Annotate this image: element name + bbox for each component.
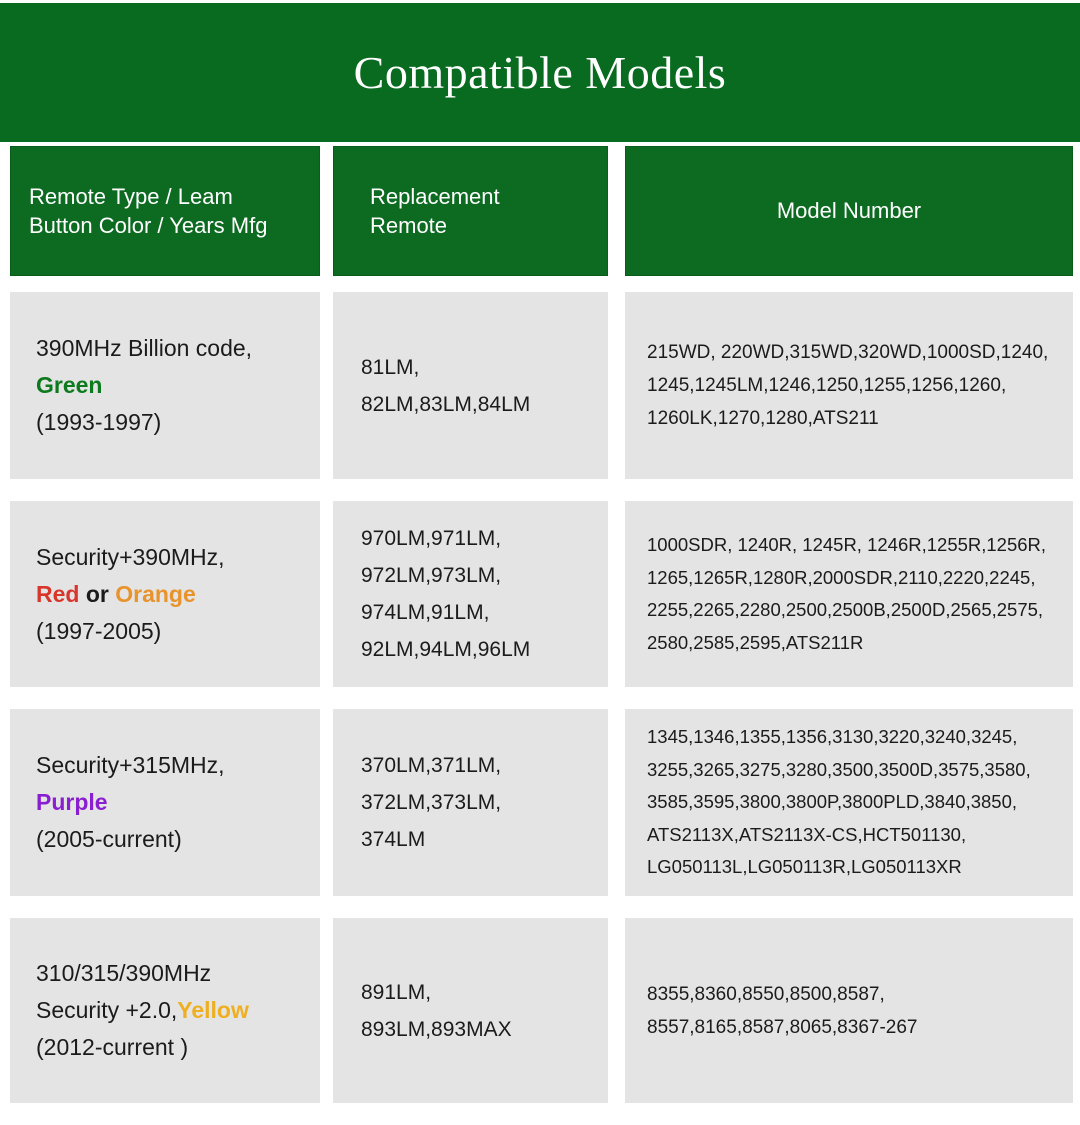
model-number-line: 3585,3595,3800,3800P,3800PLD,3840,3850, xyxy=(647,793,1057,812)
remote-type-years: (2005-current) xyxy=(36,828,304,851)
model-number-line: 1265,1265R,1280R,2000SDR,2110,2220,2245, xyxy=(647,569,1057,588)
cell-remote-type: 310/315/390MHz Security +2.0,Yellow (201… xyxy=(10,918,320,1103)
cell-model-number: 8355,8360,8550,8500,8587, 8557,8165,8587… xyxy=(625,918,1073,1103)
table-header-row: Remote Type / Leam Button Color / Years … xyxy=(0,146,1080,292)
replacement-remote-line: 891LM, xyxy=(361,982,592,1003)
page-title: Compatible Models xyxy=(354,50,727,96)
column-header-remote-type-line2: Button Color / Years Mfg xyxy=(29,211,267,240)
replacement-remote-line: 81LM, xyxy=(361,357,592,378)
remote-type-frequency: 310/315/390MHz xyxy=(36,962,304,985)
remote-type-years: (1993-1997) xyxy=(36,411,304,434)
model-number-line: 8355,8360,8550,8500,8587, xyxy=(647,985,1057,1004)
model-number-line: 1245,1245LM,1246,1250,1255,1256,1260, xyxy=(647,376,1057,395)
table-row: Security+315MHz, Purple (2005-current) 3… xyxy=(0,709,1080,918)
learn-button-color: Yellow xyxy=(177,997,249,1023)
replacement-remote-line: 893LM,893MAX xyxy=(361,1019,592,1040)
model-number-line: 2255,2265,2280,2500,2500B,2500D,2565,257… xyxy=(647,601,1057,620)
column-header-remote-type-line1: Remote Type / Leam xyxy=(29,182,233,211)
cell-model-number: 1345,1346,1355,1356,3130,3220,3240,3245,… xyxy=(625,709,1073,896)
model-number-line: ATS2113X,ATS2113X-CS,HCT501130, xyxy=(647,826,1057,845)
cell-remote-type: 390MHz Billion code, Green (1993-1997) xyxy=(10,292,320,479)
model-number-line: 1000SDR, 1240R, 1245R, 1246R,1255R,1256R… xyxy=(647,536,1057,555)
replacement-remote-line: 82LM,83LM,84LM xyxy=(361,394,592,415)
column-header-remote-type: Remote Type / Leam Button Color / Years … xyxy=(10,146,320,276)
cell-remote-type: Security+315MHz, Purple (2005-current) xyxy=(10,709,320,896)
learn-button-color-conjunction: or xyxy=(79,581,115,607)
column-header-replacement-remote: Replacement Remote xyxy=(333,146,608,276)
cell-replacement-remote: 891LM, 893LM,893MAX xyxy=(333,918,608,1103)
cell-replacement-remote: 81LM, 82LM,83LM,84LM xyxy=(333,292,608,479)
column-header-model-number: Model Number xyxy=(625,146,1073,276)
model-number-line: 1260LK,1270,1280,ATS211 xyxy=(647,409,1057,428)
replacement-remote-line: 974LM,91LM, xyxy=(361,602,592,623)
model-number-line: 8557,8165,8587,8065,8367-267 xyxy=(647,1018,1057,1037)
compatibility-table: Remote Type / Leam Button Color / Years … xyxy=(0,146,1080,1125)
remote-type-frequency: Security+315MHz, xyxy=(36,754,304,777)
table-row: 390MHz Billion code, Green (1993-1997) 8… xyxy=(0,292,1080,501)
column-header-replacement-remote-line1: Replacement xyxy=(370,182,500,211)
learn-button-color-orange: Orange xyxy=(115,581,196,607)
model-number-line: 3255,3265,3275,3280,3500,3500D,3575,3580… xyxy=(647,761,1057,780)
cell-replacement-remote: 370LM,371LM, 372LM,373LM, 374LM xyxy=(333,709,608,896)
remote-type-security-label: Security +2.0, xyxy=(36,997,177,1023)
remote-type-years: (2012-current ) xyxy=(36,1036,304,1059)
replacement-remote-line: 972LM,973LM, xyxy=(361,565,592,586)
title-banner: Compatible Models xyxy=(0,3,1080,142)
column-header-replacement-remote-line2: Remote xyxy=(370,211,447,240)
replacement-remote-line: 372LM,373LM, xyxy=(361,792,592,813)
compatible-models-page: Compatible Models Remote Type / Leam But… xyxy=(0,0,1080,1080)
table-row: Security+390MHz, Red or Orange (1997-200… xyxy=(0,501,1080,709)
remote-type-years: (1997-2005) xyxy=(36,620,304,643)
replacement-remote-line: 970LM,971LM, xyxy=(361,528,592,549)
model-number-line: 1345,1346,1355,1356,3130,3220,3240,3245, xyxy=(647,728,1057,747)
model-number-line: 2580,2585,2595,ATS211R xyxy=(647,634,1057,653)
learn-button-color: Purple xyxy=(36,791,304,814)
remote-type-frequency: Security+390MHz, xyxy=(36,546,304,569)
replacement-remote-line: 370LM,371LM, xyxy=(361,755,592,776)
cell-replacement-remote: 970LM,971LM, 972LM,973LM, 974LM,91LM, 92… xyxy=(333,501,608,687)
remote-type-frequency: 390MHz Billion code, xyxy=(36,337,304,360)
model-number-line: 215WD, 220WD,315WD,320WD,1000SD,1240, xyxy=(647,343,1057,362)
cell-remote-type: Security+390MHz, Red or Orange (1997-200… xyxy=(10,501,320,687)
cell-model-number: 215WD, 220WD,315WD,320WD,1000SD,1240, 12… xyxy=(625,292,1073,479)
learn-button-color-group: Red or Orange xyxy=(36,583,304,606)
cell-model-number: 1000SDR, 1240R, 1245R, 1246R,1255R,1256R… xyxy=(625,501,1073,687)
replacement-remote-line: 374LM xyxy=(361,829,592,850)
learn-button-color-red: Red xyxy=(36,581,79,607)
column-header-model-number-label: Model Number xyxy=(777,196,921,225)
learn-button-color-group: Security +2.0,Yellow xyxy=(36,999,304,1022)
model-number-line: LG050113L,LG050113R,LG050113XR xyxy=(647,858,1057,877)
learn-button-color: Green xyxy=(36,374,304,397)
table-row: 310/315/390MHz Security +2.0,Yellow (201… xyxy=(0,918,1080,1125)
replacement-remote-line: 92LM,94LM,96LM xyxy=(361,639,592,660)
